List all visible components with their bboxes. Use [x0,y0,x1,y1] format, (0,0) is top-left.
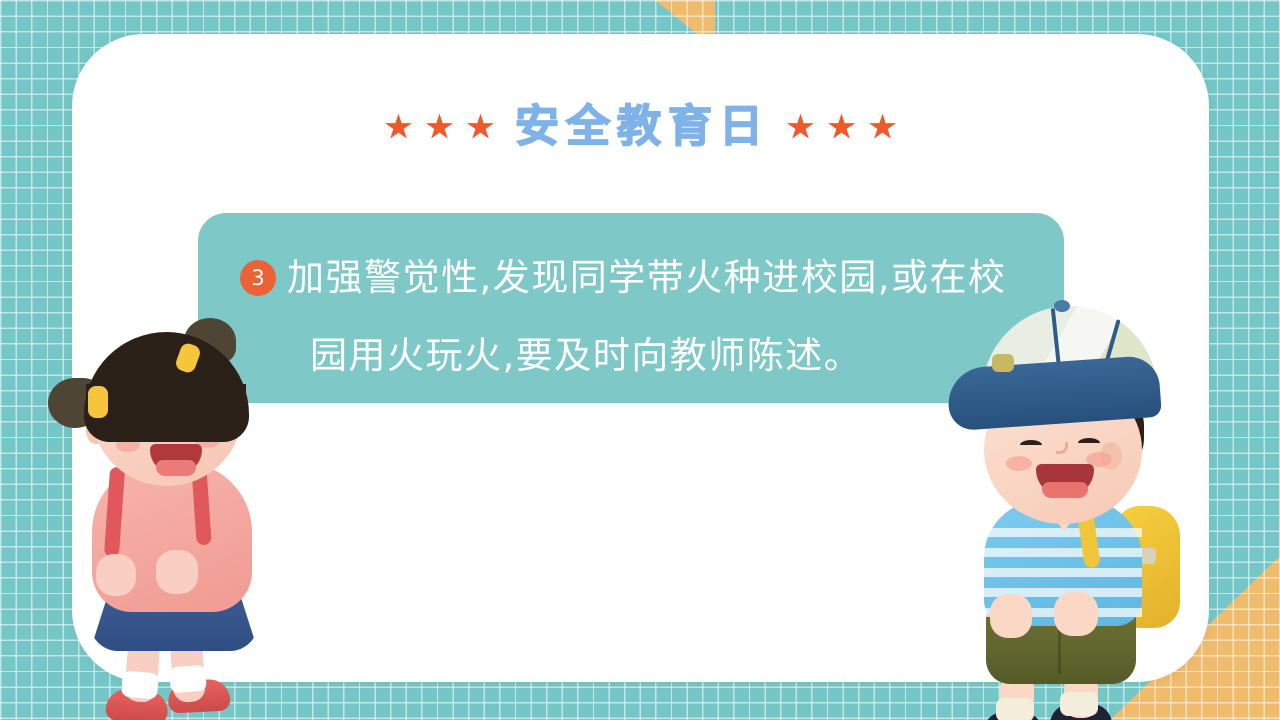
content-text-line-2: 园用火玩火,要及时向教师陈述。 [310,336,862,377]
title-text: 安全教育日 [515,105,770,149]
boy-cap-button [1054,300,1070,312]
girl-hand-left [96,554,136,596]
boy-student-illustration [938,292,1208,720]
content-text-line-1: 加强警觉性,发现同学带火种进校园,或在校 [287,258,1007,299]
boy-hand-right [1054,592,1098,636]
boy-cap-clip [992,354,1014,372]
boy-blush-left [1006,456,1032,471]
girl-hair-tie-left [88,386,108,418]
content-line-1: 3 加强警觉性,发现同学带火种进校园,或在校 [234,239,1034,317]
girl-hand-right [156,550,198,594]
girl-sock-right [169,665,207,693]
content-line-2: 园用火玩火,要及时向教师陈述。 [234,317,1034,395]
star-icon-6 [869,114,896,141]
star-icon-1 [385,114,412,141]
boy-sock-right [1060,692,1098,716]
item-number-badge: 3 [240,260,276,296]
boy-tongue [1042,482,1088,498]
star-icon-5 [828,114,855,141]
page-title: 安全教育日 [72,97,1209,157]
slide-canvas: 安全教育日 3 加强警觉性,发现同学带火种进校园,或在校 园用火玩火,要及时向教… [0,0,1280,720]
star-icon-2 [426,114,453,141]
girl-tongue [156,460,196,476]
boy-shirt-stripe-3 [984,568,1142,577]
star-icon-3 [467,114,494,141]
content-box: 3 加强警觉性,发现同学带火种进校园,或在校 园用火玩火,要及时向教师陈述。 [198,213,1064,403]
boy-hand-left [990,594,1032,638]
boy-eye-right [1078,438,1100,448]
girl-student-illustration [44,322,294,720]
star-icon-4 [787,114,814,141]
girl-sock-left [121,670,159,699]
boy-sock-left [996,698,1034,720]
boy-shirt-stripe-2 [984,548,1142,557]
boy-eye-left [1020,440,1042,450]
